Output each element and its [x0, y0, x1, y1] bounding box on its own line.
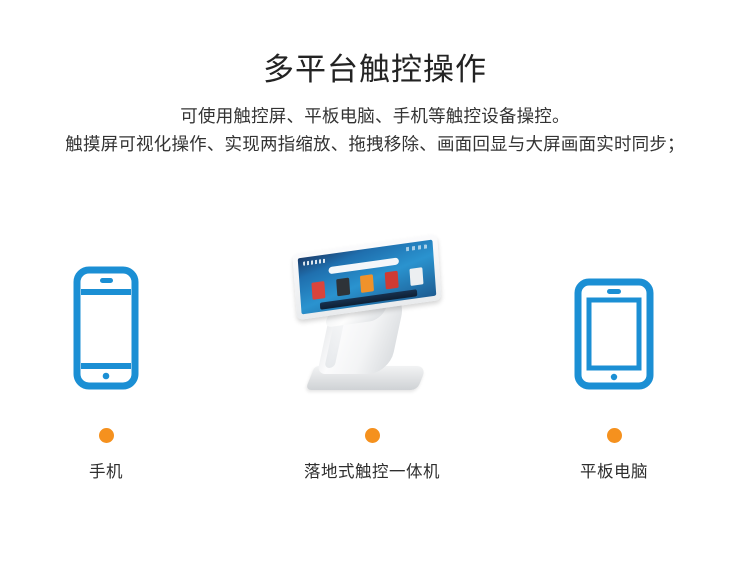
- kiosk-app-tile-3: [360, 274, 374, 293]
- subtitle-line-1: 可使用触控屏、平板电脑、手机等触控设备操控。: [0, 102, 750, 130]
- kiosk-art: [252, 230, 492, 390]
- tablet-art: [494, 230, 734, 390]
- kiosk-app-tile-1: [312, 281, 326, 300]
- tablet-icon: [574, 278, 654, 390]
- slide-root: 多平台触控操作 可使用触控屏、平板电脑、手机等触控设备操控。 触摸屏可视化操作、…: [0, 0, 750, 571]
- kiosk-screen-status-icons: [406, 244, 428, 251]
- device-label-kiosk: 落地式触控一体机: [252, 461, 492, 483]
- device-item-tablet: 平板电脑: [494, 230, 734, 483]
- page-title: 多平台触控操作: [0, 0, 750, 90]
- orange-dot-tablet: [607, 428, 622, 443]
- header: 多平台触控操作 可使用触控屏、平板电脑、手机等触控设备操控。 触摸屏可视化操作、…: [0, 0, 750, 158]
- page-subtitle: 可使用触控屏、平板电脑、手机等触控设备操控。 触摸屏可视化操作、实现两指缩放、拖…: [0, 90, 750, 158]
- kiosk-screen-bezel: [292, 234, 441, 320]
- device-label-phone: 手机: [0, 461, 226, 483]
- floor-standing-touch-kiosk-image: [292, 240, 452, 390]
- kiosk-app-tile-5: [409, 267, 423, 286]
- subtitle-line-2: 触摸屏可视化操作、实现两指缩放、拖拽移除、画面回显与大屏画面实时同步；: [0, 130, 750, 158]
- smartphone-icon: [73, 266, 139, 390]
- kiosk-app-tile-2: [336, 278, 350, 297]
- kiosk-screen-content: [298, 240, 437, 315]
- kiosk-app-tile-4: [385, 271, 399, 290]
- phone-art: [0, 230, 226, 390]
- device-label-tablet: 平板电脑: [494, 461, 734, 483]
- device-item-kiosk: 落地式触控一体机: [252, 230, 492, 483]
- device-item-phone: 手机: [0, 230, 226, 483]
- orange-dot-phone: [99, 428, 114, 443]
- kiosk-screen-logo: [303, 258, 327, 265]
- orange-dot-kiosk: [365, 428, 380, 443]
- device-row: 手机: [0, 230, 750, 530]
